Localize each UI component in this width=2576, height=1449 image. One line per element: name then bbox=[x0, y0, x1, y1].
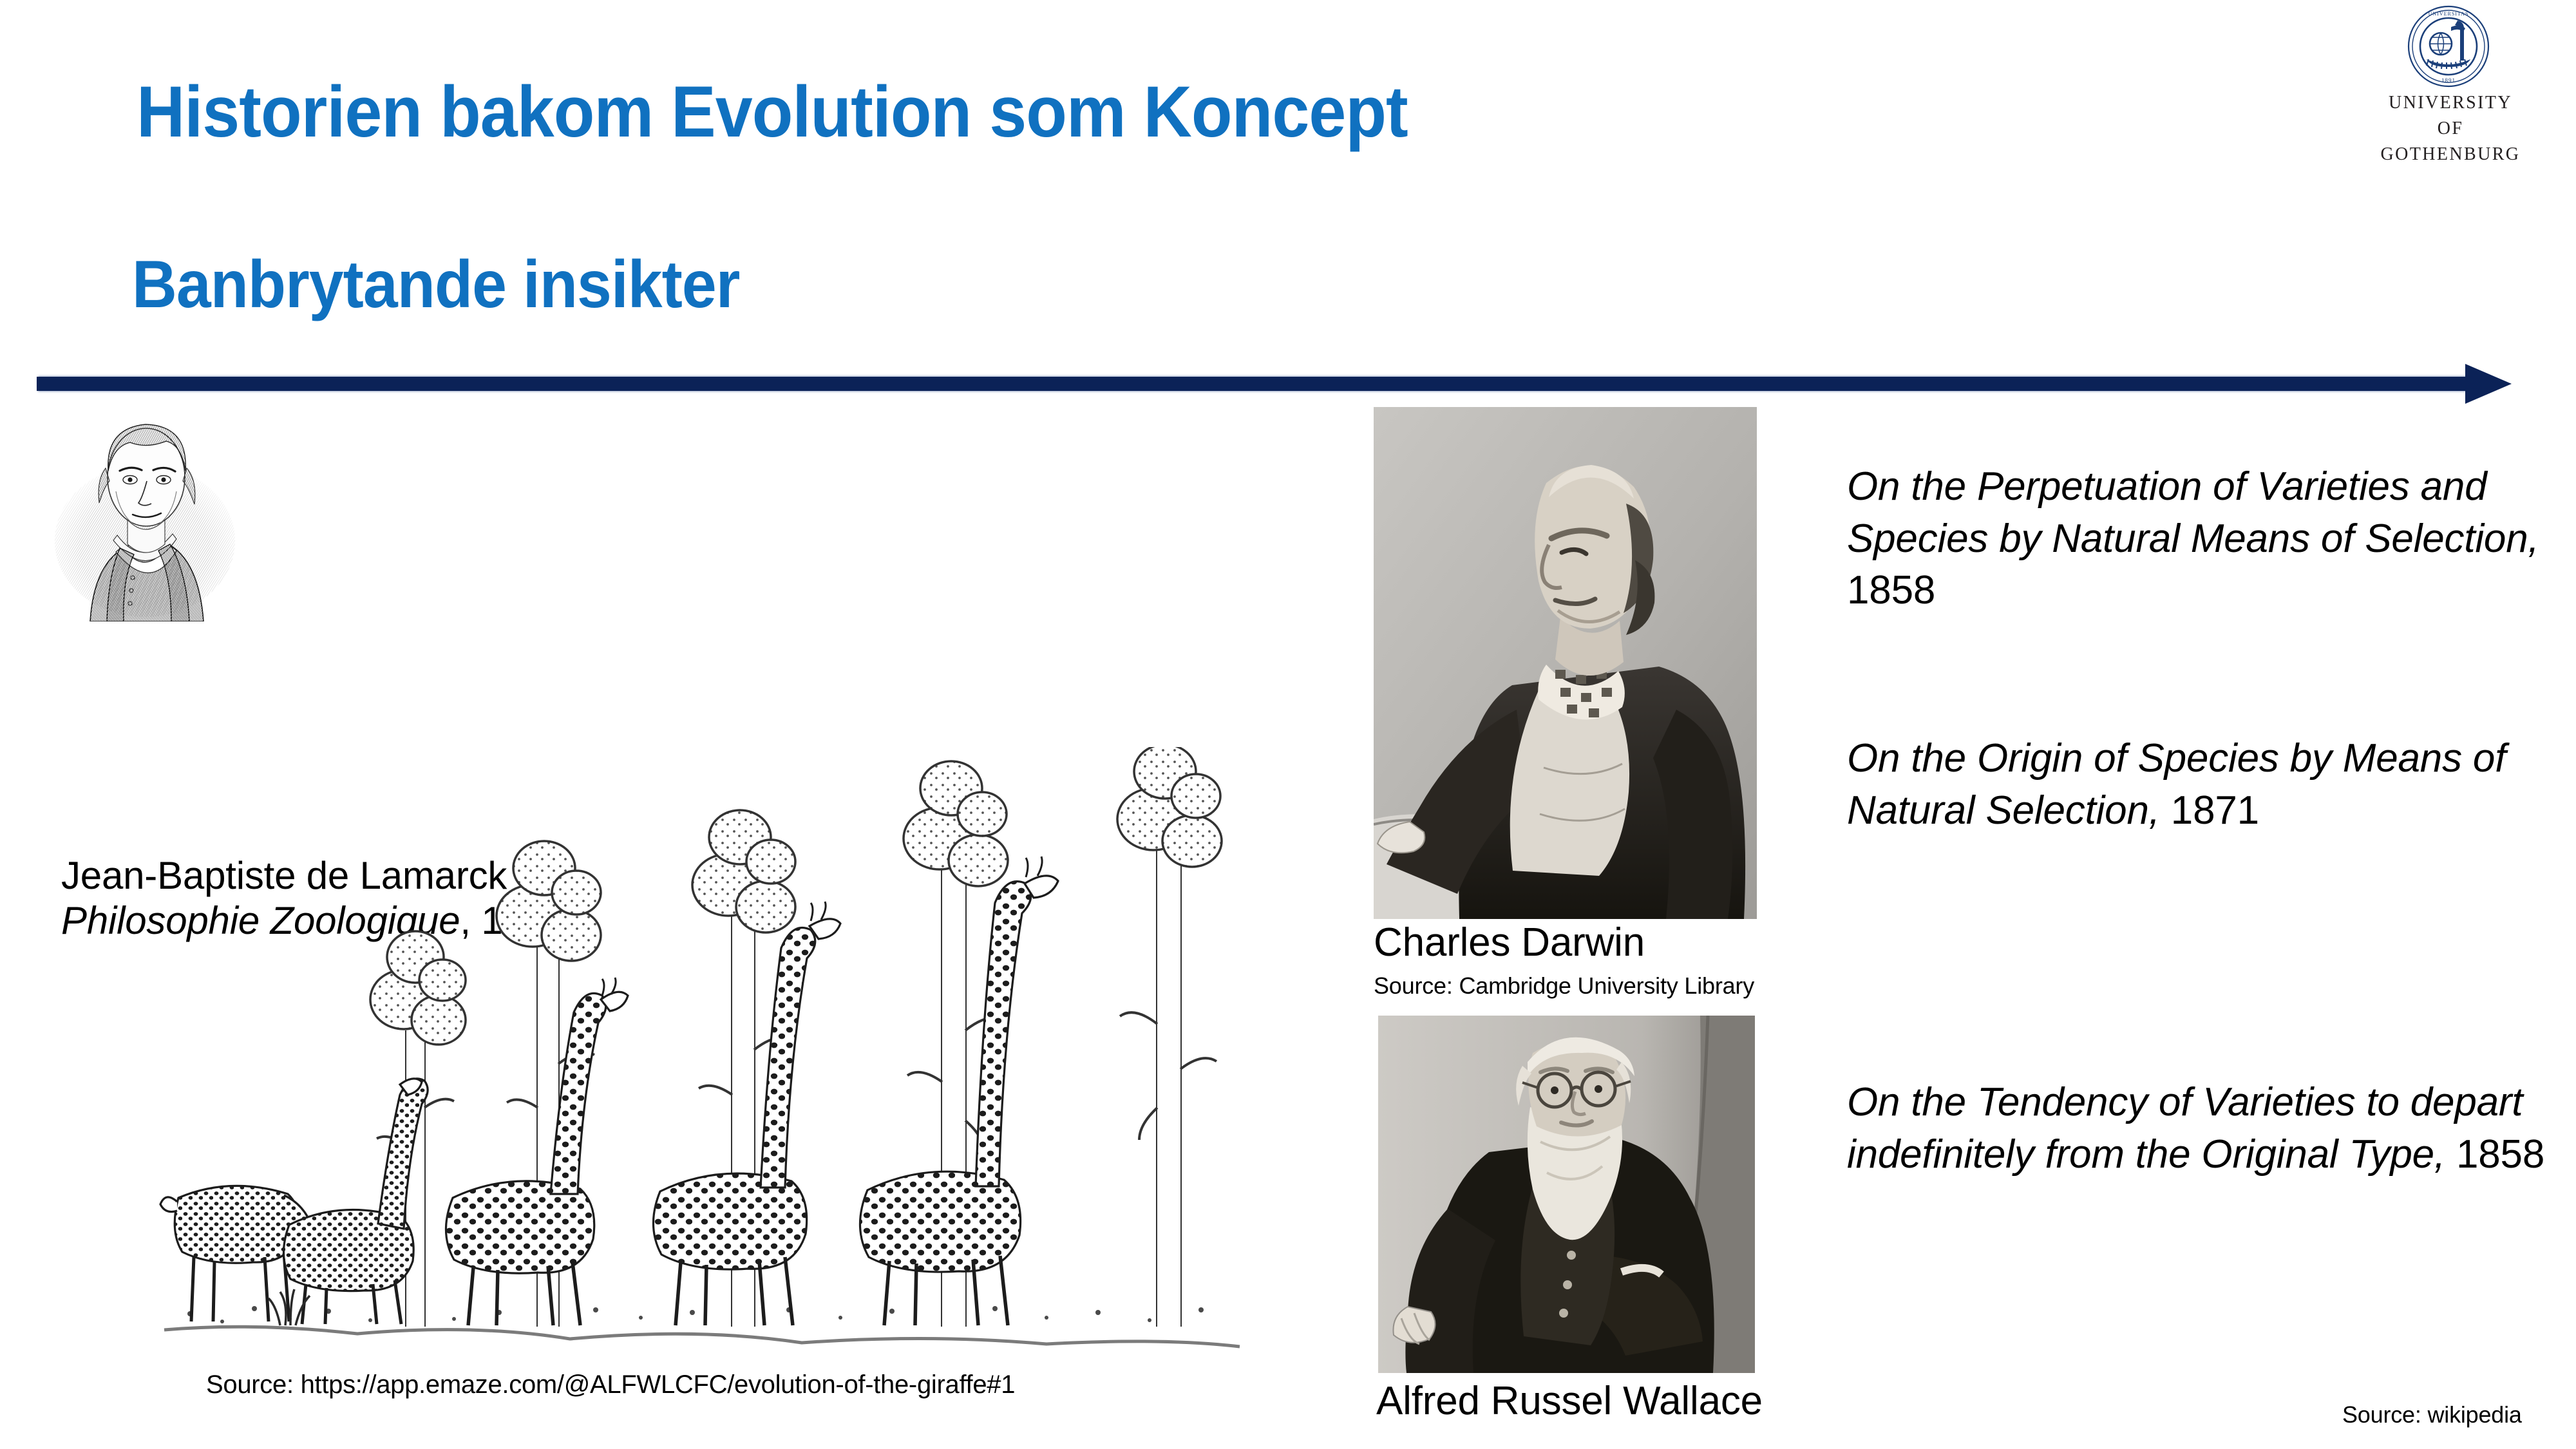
page-subtitle: Banbrytande insikter bbox=[132, 251, 739, 318]
svg-text:UNIVERSITAS: UNIVERSITAS bbox=[2429, 11, 2469, 17]
university-logo: UNIVERSITAS 1891 UNIVERSITY OF GOTHENBUR… bbox=[2376, 5, 2524, 166]
work-item-3: On the Tendency of Varieties to depart i… bbox=[1847, 1077, 2549, 1180]
darwin-source: Source: Cambridge University Library bbox=[1374, 972, 1754, 999]
logo-line-1: UNIVERSITY OF bbox=[2376, 90, 2524, 142]
timeline-arrow bbox=[0, 364, 2576, 410]
slide-root: Historien bakom Evolution som Koncept Ba… bbox=[0, 0, 2576, 1449]
work-2-year: 1871 bbox=[2160, 788, 2259, 833]
work-item-2: On the Origin of Species by Means of Nat… bbox=[1847, 733, 2549, 837]
work-1-year: 1858 bbox=[1847, 568, 1935, 612]
lamarckian-giraffe-neck-evolution-diagram bbox=[151, 747, 1259, 1356]
jean-baptiste-de-lamarck-engraving bbox=[50, 409, 240, 621]
university-of-gothenburg-seal-icon: UNIVERSITAS 1891 bbox=[2407, 5, 2490, 88]
darwin-name: Charles Darwin bbox=[1374, 920, 1645, 965]
timeline-arrow-shaft bbox=[37, 377, 2477, 391]
logo-wordmark: UNIVERSITY OF GOTHENBURG bbox=[2376, 90, 2524, 167]
giraffe-source-caption: Source: https://app.emaze.com/@ALFWLCFC/… bbox=[206, 1370, 1015, 1399]
work-3-title: On the Tendency of Varieties to depart i… bbox=[1847, 1080, 2523, 1177]
right-arrow-icon bbox=[2465, 364, 2512, 404]
logo-line-2: GOTHENBURG bbox=[2376, 142, 2524, 167]
svg-text:1891: 1891 bbox=[2441, 77, 2456, 84]
charles-darwin-photograph bbox=[1374, 407, 1757, 919]
wallace-name: Alfred Russel Wallace bbox=[1376, 1378, 1763, 1424]
alfred-russel-wallace-photograph bbox=[1378, 1016, 1755, 1373]
work-3-year: 1858 bbox=[2445, 1132, 2544, 1177]
work-item-1: On the Perpetuation of Varieties and Spe… bbox=[1847, 461, 2549, 617]
work-1-title: On the Perpetuation of Varieties and Spe… bbox=[1847, 464, 2539, 561]
tree-5 bbox=[1117, 747, 1222, 1328]
page-title: Historien bakom Evolution som Koncept bbox=[137, 76, 1408, 148]
wikipedia-source: Source: wikipedia bbox=[2342, 1401, 2522, 1428]
